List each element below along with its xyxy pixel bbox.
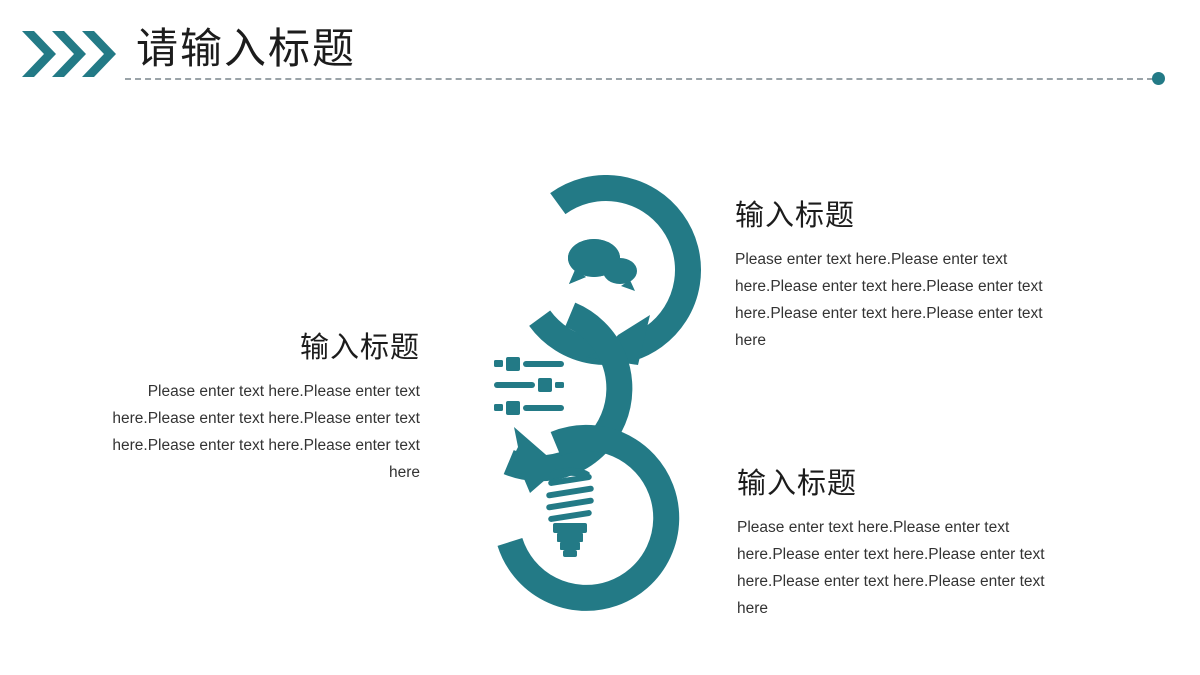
block-body: Please enter text here.Please enter text… — [737, 514, 1067, 622]
sliders-settings-icon — [494, 357, 564, 415]
chat-bubbles-icon — [568, 239, 637, 291]
block-heading: 输入标题 — [90, 328, 420, 368]
cfl-lightbulb-icon — [546, 468, 594, 557]
divider-end-dot-icon — [1152, 72, 1165, 85]
block-body: Please enter text here.Please enter text… — [90, 378, 420, 486]
block-heading: 输入标题 — [737, 464, 1067, 504]
page-title: 请输入标题 — [136, 21, 356, 77]
triple-chevron-right-icon — [22, 31, 118, 77]
block-body: Please enter text here.Please enter text… — [735, 246, 1065, 354]
cycle-diagram — [410, 175, 730, 615]
title-divider — [125, 78, 1153, 80]
text-block-right-bottom: 输入标题 Please enter text here.Please enter… — [737, 464, 1067, 622]
text-block-right-top: 输入标题 Please enter text here.Please enter… — [735, 196, 1065, 354]
text-block-left-mid: 输入标题 Please enter text here.Please enter… — [90, 328, 420, 486]
block-heading: 输入标题 — [735, 196, 1065, 236]
slide-header: 请输入标题 — [0, 0, 1200, 110]
